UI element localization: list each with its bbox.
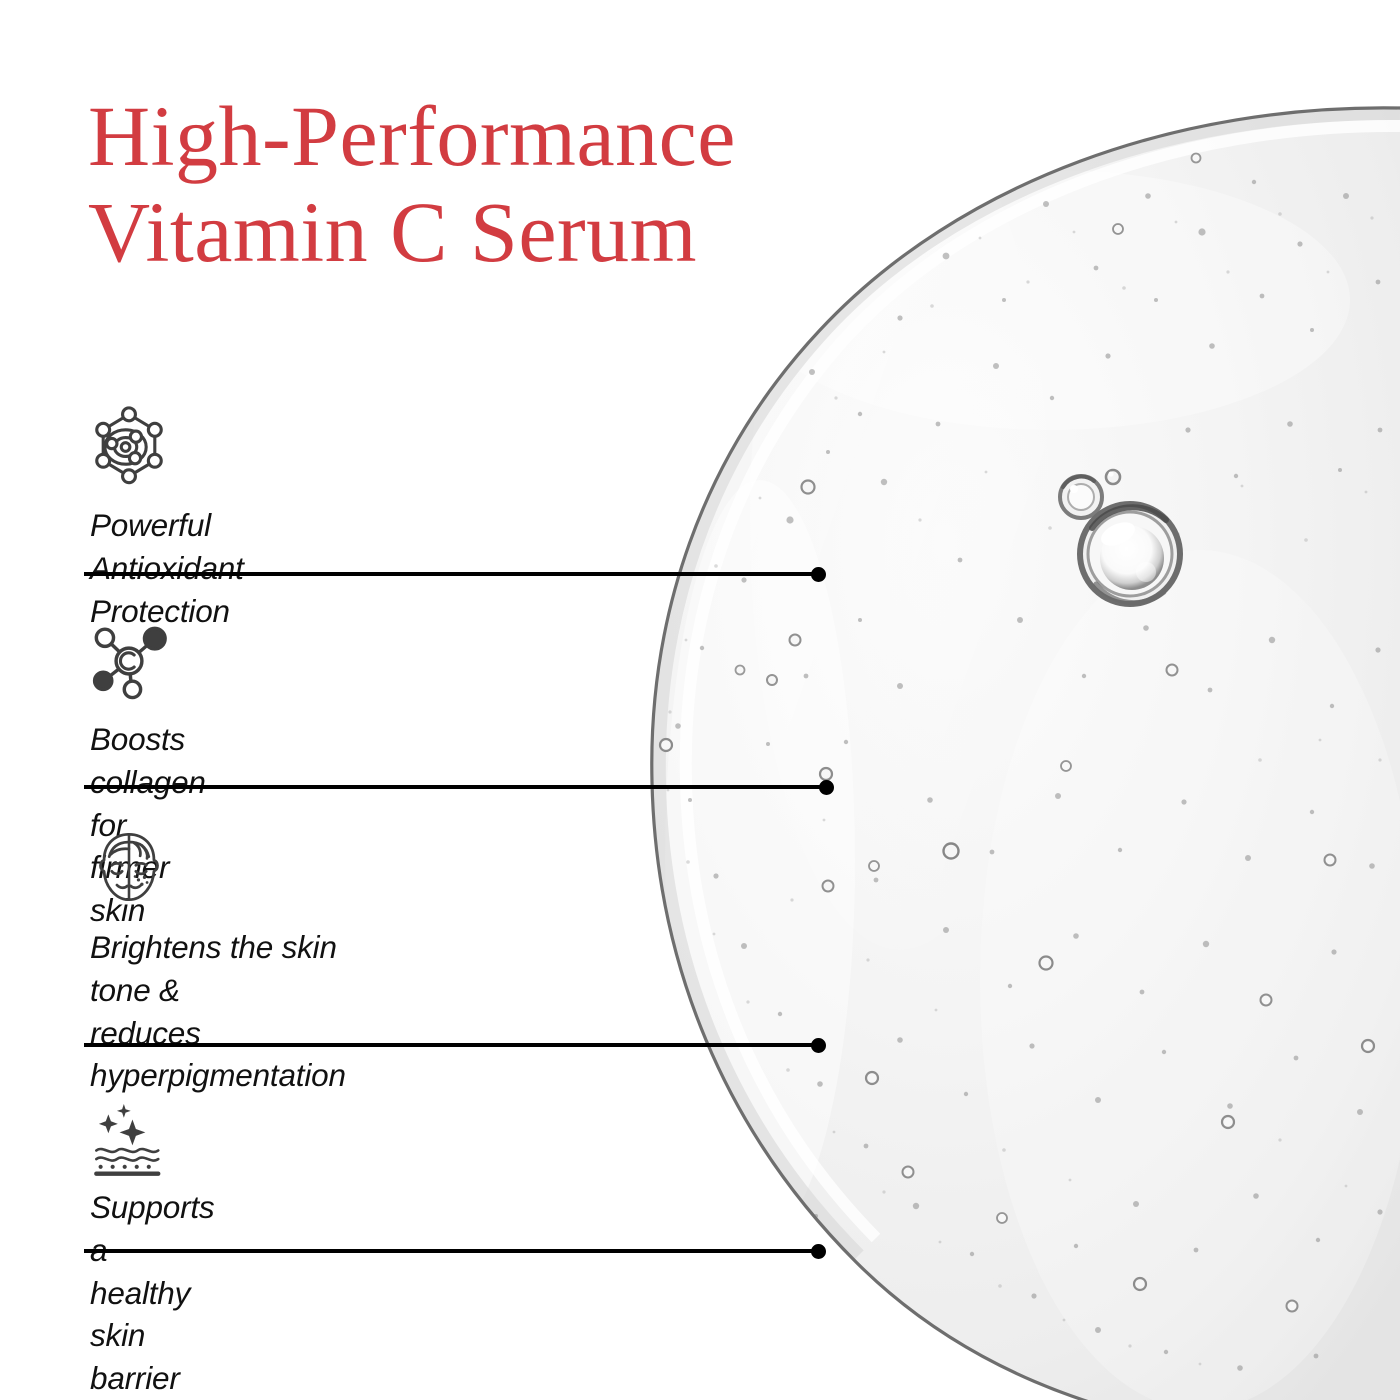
split-face-pigmentation-icon (86, 824, 172, 910)
callout-line (84, 572, 818, 576)
product-infographic: High-Performance Vitamin C Serum (0, 0, 1400, 1400)
callout-line (84, 1249, 818, 1253)
callout-dot (811, 567, 826, 582)
callout-line (84, 785, 826, 789)
skin-barrier-layers-icon (86, 1092, 172, 1178)
callout-dot (819, 780, 834, 795)
bubble-cluster-large (1060, 470, 1180, 604)
feature-label: Brightens the skin tone & reduces hyperp… (90, 926, 346, 1097)
antioxidant-molecule-icon (86, 404, 172, 490)
callout-line (84, 1043, 818, 1047)
feature-label: Powerful Antioxidant Protection (90, 504, 244, 632)
droplet-outline (652, 108, 1400, 1400)
feature-label: Supports a healthy skin barrier (90, 1186, 214, 1400)
ring-bubbles-small (660, 154, 1374, 1312)
callout-dot (811, 1244, 826, 1259)
micro-bubbles (675, 180, 1382, 1371)
page-title: High-Performance Vitamin C Serum (88, 88, 908, 281)
collagen-vitamin-c-molecule-icon (86, 618, 172, 704)
callout-dot (811, 1038, 826, 1053)
